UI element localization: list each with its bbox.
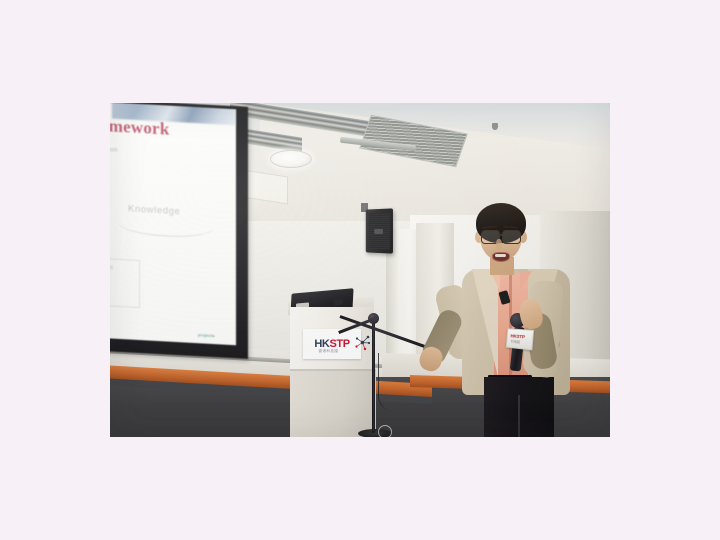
podium-logo-plaque: HKSTP 香港科技園 — [303, 329, 361, 359]
slide-note-text: ter ent — [110, 264, 113, 273]
slide-subtitle: action — [110, 146, 118, 154]
hkstp-network-node-icon — [354, 334, 371, 351]
presentation-photo: amework action ← → Knowledge ter ent nd … — [110, 103, 610, 437]
slide-content-box — [110, 256, 140, 308]
mic-stand-pole — [372, 317, 375, 433]
screen-brand-label: projecta — [198, 332, 215, 338]
mic-stand-foot-ring — [378, 425, 392, 437]
hkstp-logo-hk: HK — [314, 339, 329, 350]
projection-screen: amework action ← → Knowledge ter ent nd … — [110, 103, 248, 359]
presenter-glasses-bridge — [498, 234, 503, 236]
hkstp-logo-stp: STP — [329, 339, 349, 350]
pa-speaker — [366, 208, 393, 253]
mic-cable — [378, 353, 393, 411]
presenter-glasses-lens — [502, 230, 521, 244]
hkstp-logo-chinese: 香港科技園 — [318, 350, 338, 354]
presenter-teeth — [495, 254, 506, 257]
podium-lower-panel — [290, 371, 376, 437]
presenter-nose — [496, 239, 502, 251]
presenter: HKSTP 科技園 — [428, 189, 608, 437]
hkstp-logo: HKSTP 香港科技園 — [314, 339, 349, 350]
projection-screen-surface: amework action ← → Knowledge ter ent nd — [110, 103, 236, 345]
microphone-flag-sub-text: 科技園 — [511, 339, 520, 344]
sprinkler-head-icon — [492, 123, 498, 130]
pa-speaker-badge — [374, 229, 383, 234]
presenter-mouth — [492, 252, 510, 262]
ceiling-downlight — [270, 150, 312, 168]
slide-diagram-arc — [118, 211, 214, 239]
microphone-logo-flag: HKSTP 科技園 — [506, 328, 534, 350]
presenter-trouser-seam — [518, 395, 520, 437]
screenshot-canvas: amework action ← → Knowledge ter ent nd … — [0, 0, 720, 540]
